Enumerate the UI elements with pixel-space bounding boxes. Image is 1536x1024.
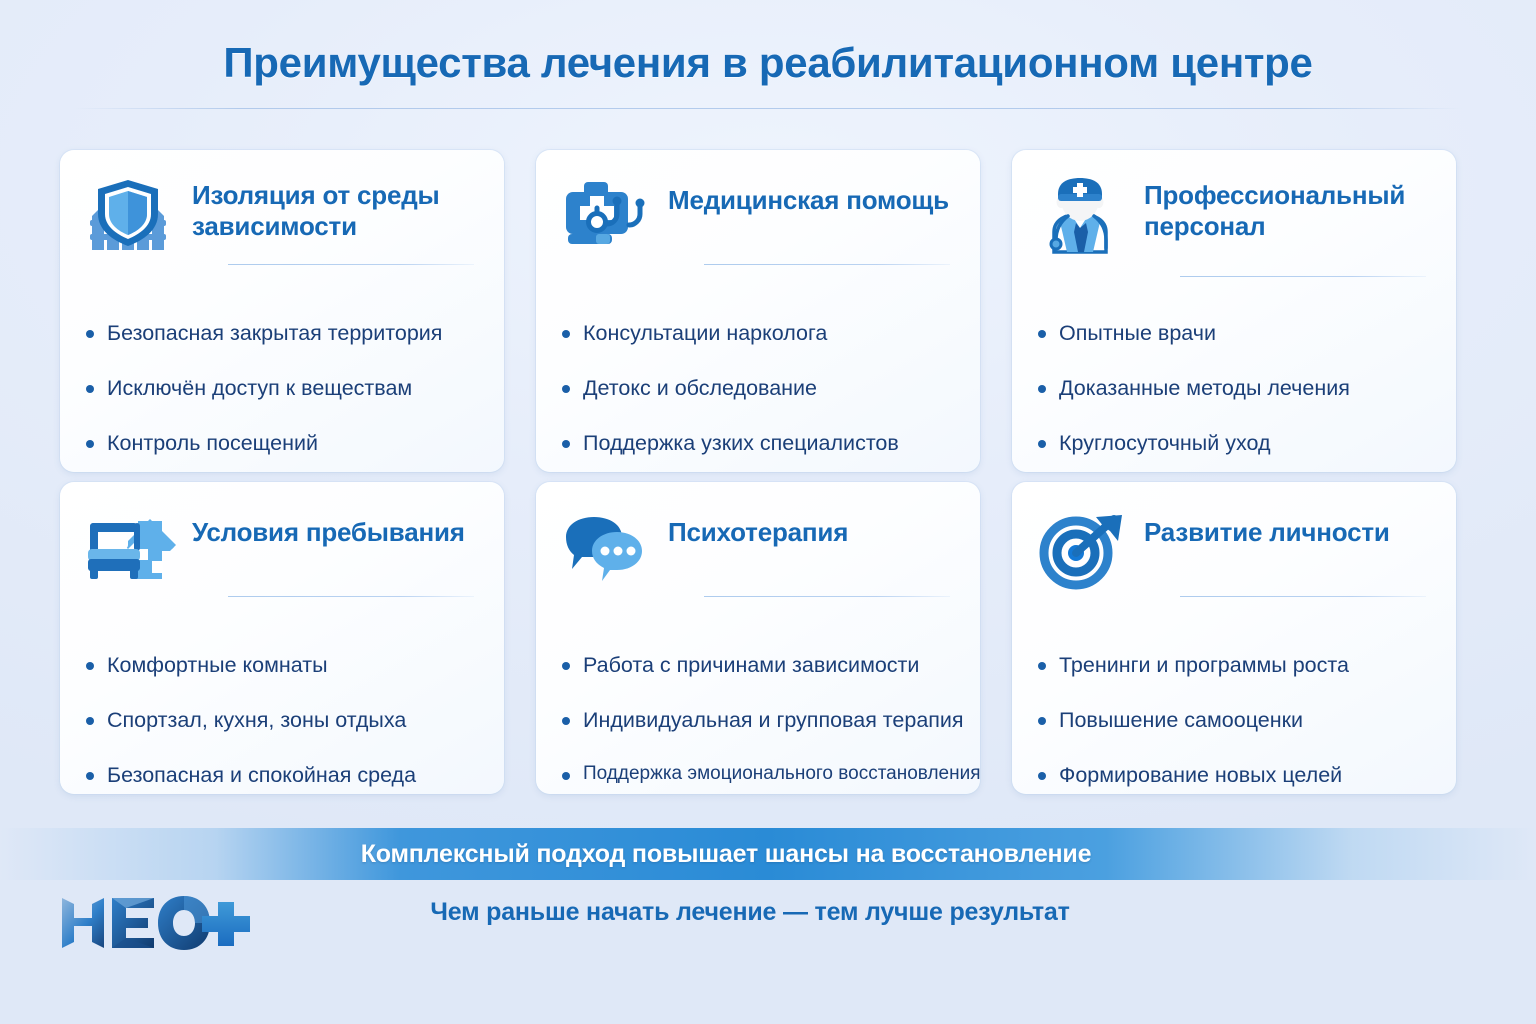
banner-text: Комплексный подход повышает шансы на вос… [361,840,1092,869]
benefit-list: Опытные врачи Доказанные методы лечения … [1038,320,1426,457]
list-item: Комфортные комнаты [86,652,474,679]
card-header: Медицинская помощь [562,176,950,262]
summary-banner: Комплексный подход повышает шансы на вос… [0,828,1536,880]
list-item: Консультации нарколога [562,320,950,347]
target-arrow-icon [1038,508,1130,594]
list-item-label: Доказанные методы лечения [1059,375,1350,402]
card-title: Изоляция от среды зависимости [192,176,474,241]
benefits-grid: Изоляция от среды зависимости Безопасная… [60,150,1456,794]
page-title: Преимущества лечения в реабилитационном … [0,40,1536,86]
card-header: Условия пребывания [86,508,474,594]
list-item: Спортзал, кухня, зоны отдыха [86,707,474,734]
medical-bag-stethoscope-icon [562,176,654,262]
card-title-divider [704,264,950,265]
card-header: Развитие личности [1038,508,1426,594]
list-item: Контроль посещений [86,430,474,457]
list-item-label: Безопасная и спокойная среда [107,762,416,789]
bullet-dot [1038,330,1046,338]
list-item: Поддержка эмоционального восстановления [562,762,950,786]
card-title-divider [228,264,474,265]
bullet-dot [562,440,570,448]
speech-bubbles-icon [562,508,654,594]
list-item-label: Детокс и обследование [583,375,817,402]
bullet-dot [562,662,570,670]
bullet-dot [562,772,570,780]
list-item-label: Контроль посещений [107,430,318,457]
list-item-label: Круглосуточный уход [1059,430,1271,457]
list-item-label: Поддержка узких специалистов [583,430,899,457]
card-title-divider [228,596,474,597]
list-item: Детокс и обследование [562,375,950,402]
list-item: Исключён доступ к веществам [86,375,474,402]
benefit-card-personal-growth[interactable]: Развитие личности Тренинги и программы р… [1012,482,1456,794]
list-item-label: Спортзал, кухня, зоны отдыха [107,707,406,734]
list-item: Индивидуальная и групповая терапия [562,707,950,734]
benefit-card-accommodation[interactable]: Условия пребывания Комфортные комнаты Сп… [60,482,504,794]
card-title-divider [1180,276,1426,277]
list-item: Формирование новых целей [1038,762,1426,789]
benefit-card-medical[interactable]: Медицинская помощь Консультации нарколог… [536,150,980,472]
card-header: Профессиональный персонал [1038,176,1426,262]
benefit-list: Безопасная закрытая территория Исключён … [86,320,474,457]
list-item-label: Опытные врачи [1059,320,1216,347]
bullet-dot [86,385,94,393]
benefit-list: Консультации нарколога Детокс и обследов… [562,320,950,457]
list-item-label: Тренинги и программы роста [1059,652,1349,679]
list-item-label: Поддержка эмоционального восстановления [583,762,980,786]
bullet-dot [86,662,94,670]
bullet-dot [86,330,94,338]
card-title-divider [704,596,950,597]
list-item: Повышение самооценки [1038,707,1426,734]
card-title-divider [1180,596,1426,597]
bullet-dot [562,330,570,338]
list-item-label: Повышение самооценки [1059,707,1303,734]
list-item: Безопасная закрытая территория [86,320,474,347]
shield-fence-icon [86,176,178,262]
list-item-label: Комфортные комнаты [107,652,328,679]
list-item: Опытные врачи [1038,320,1426,347]
list-item: Доказанные методы лечения [1038,375,1426,402]
card-title: Развитие личности [1144,508,1390,548]
list-item: Круглосуточный уход [1038,430,1426,457]
bed-house-icon [86,508,178,594]
card-title: Условия пребывания [192,508,465,548]
footer-tagline: Чем раньше начать лечение — тем лучше ре… [0,898,1518,927]
card-header: Изоляция от среды зависимости [86,176,474,262]
list-item: Тренинги и программы роста [1038,652,1426,679]
bullet-dot [562,717,570,725]
bullet-dot [1038,717,1046,725]
page-header: Преимущества лечения в реабилитационном … [0,0,1536,109]
bullet-dot [1038,662,1046,670]
title-divider [73,108,1463,109]
bullet-dot [1038,385,1046,393]
bullet-dot [1038,772,1046,780]
card-title: Профессиональный персонал [1144,176,1426,241]
card-title: Психотерапия [668,508,848,548]
list-item-label: Формирование новых целей [1059,762,1342,789]
list-item-label: Безопасная закрытая территория [107,320,442,347]
list-item-label: Индивидуальная и групповая терапия [583,707,964,734]
list-item: Поддержка узких специалистов [562,430,950,457]
benefit-list: Комфортные комнаты Спортзал, кухня, зоны… [86,652,474,789]
bullet-dot [86,717,94,725]
list-item-label: Работа с причинами зависимости [583,652,919,679]
card-header: Психотерапия [562,508,950,594]
benefit-card-isolation[interactable]: Изоляция от среды зависимости Безопасная… [60,150,504,472]
list-item-label: Исключён доступ к веществам [107,375,412,402]
footer: Чем раньше начать лечение — тем лучше ре… [0,880,1536,980]
benefit-card-psychotherapy[interactable]: Психотерапия Работа с причинами зависимо… [536,482,980,794]
list-item: Безопасная и спокойная среда [86,762,474,789]
benefit-card-staff[interactable]: Профессиональный персонал Опытные врачи … [1012,150,1456,472]
benefit-list: Тренинги и программы роста Повышение сам… [1038,652,1426,789]
card-title: Медицинская помощь [668,176,949,216]
bullet-dot [86,440,94,448]
bullet-dot [562,385,570,393]
bullet-dot [1038,440,1046,448]
doctor-icon [1038,176,1130,262]
list-item-label: Консультации нарколога [583,320,827,347]
list-item: Работа с причинами зависимости [562,652,950,679]
bullet-dot [86,772,94,780]
benefit-list: Работа с причинами зависимости Индивидуа… [562,652,950,786]
